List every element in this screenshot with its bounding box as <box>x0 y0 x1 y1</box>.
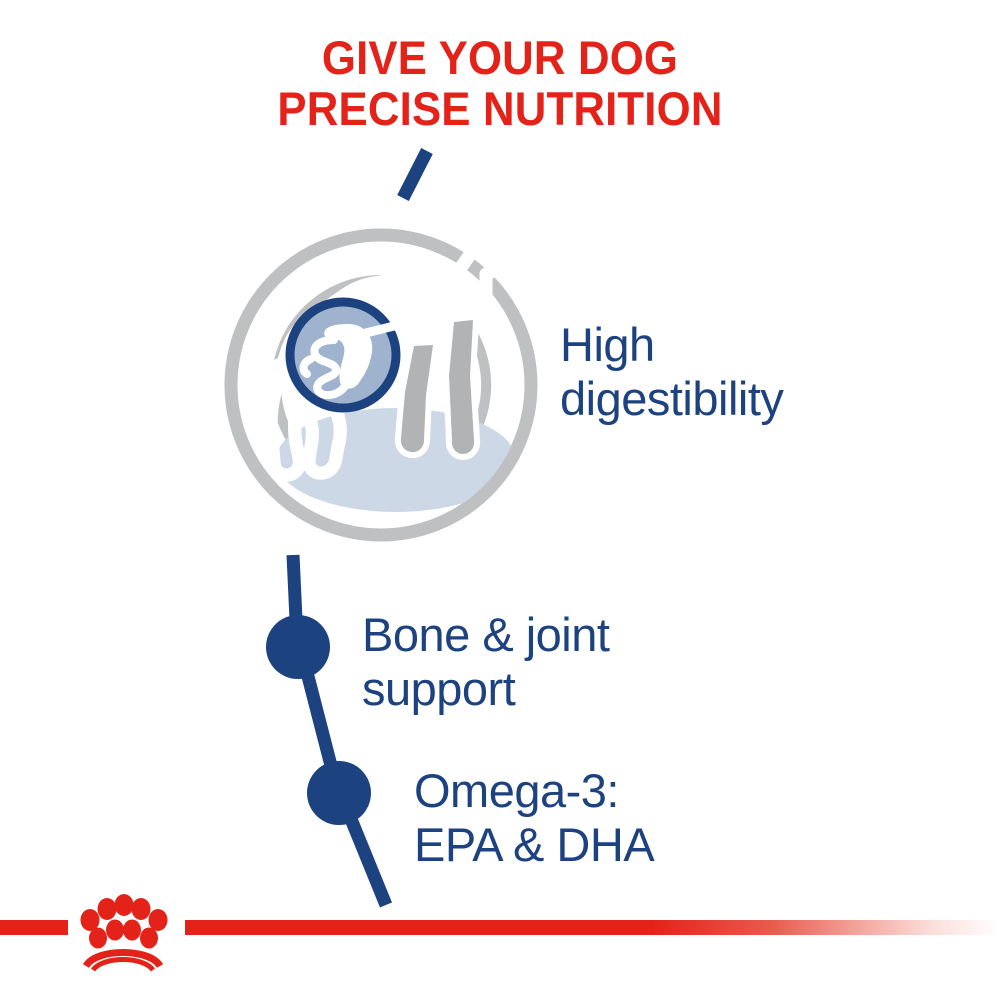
headline-line-2: PRECISE NUTRITION <box>35 83 965 134</box>
headline-line-1: GIVE YOUR DOG <box>35 32 965 83</box>
feature-connector-line <box>250 545 450 915</box>
feature-line-1: High <box>560 318 783 372</box>
crown-arcs <box>86 953 160 971</box>
page-title: GIVE YOUR DOG PRECISE NUTRITION <box>35 32 965 134</box>
footer-bar-right-segment <box>185 920 1000 935</box>
feature-line-2: EPA & DHA <box>414 818 654 872</box>
connector-dot-icon <box>266 615 330 679</box>
stomach-intestine-badge <box>290 302 396 408</box>
connector-stub-top <box>403 151 427 198</box>
royal-canin-crown-logo <box>70 892 176 972</box>
footer-brand-bar <box>0 890 1000 1000</box>
dog-digestive-target-illustration <box>178 140 588 580</box>
feature-line-1: Omega-3: <box>414 764 654 818</box>
crown-dots <box>81 894 168 949</box>
feature-line-2: digestibility <box>560 372 783 426</box>
feature-label-omega-3-epa-dha: Omega-3: EPA & DHA <box>414 764 654 872</box>
footer-bar-left-segment <box>0 920 68 935</box>
feature-label-high-digestibility: High digestibility <box>560 318 783 426</box>
connector-dot-icon <box>307 761 371 825</box>
infographic-canvas: GIVE YOUR DOG PRECISE NUTRITION <box>0 0 1000 1000</box>
